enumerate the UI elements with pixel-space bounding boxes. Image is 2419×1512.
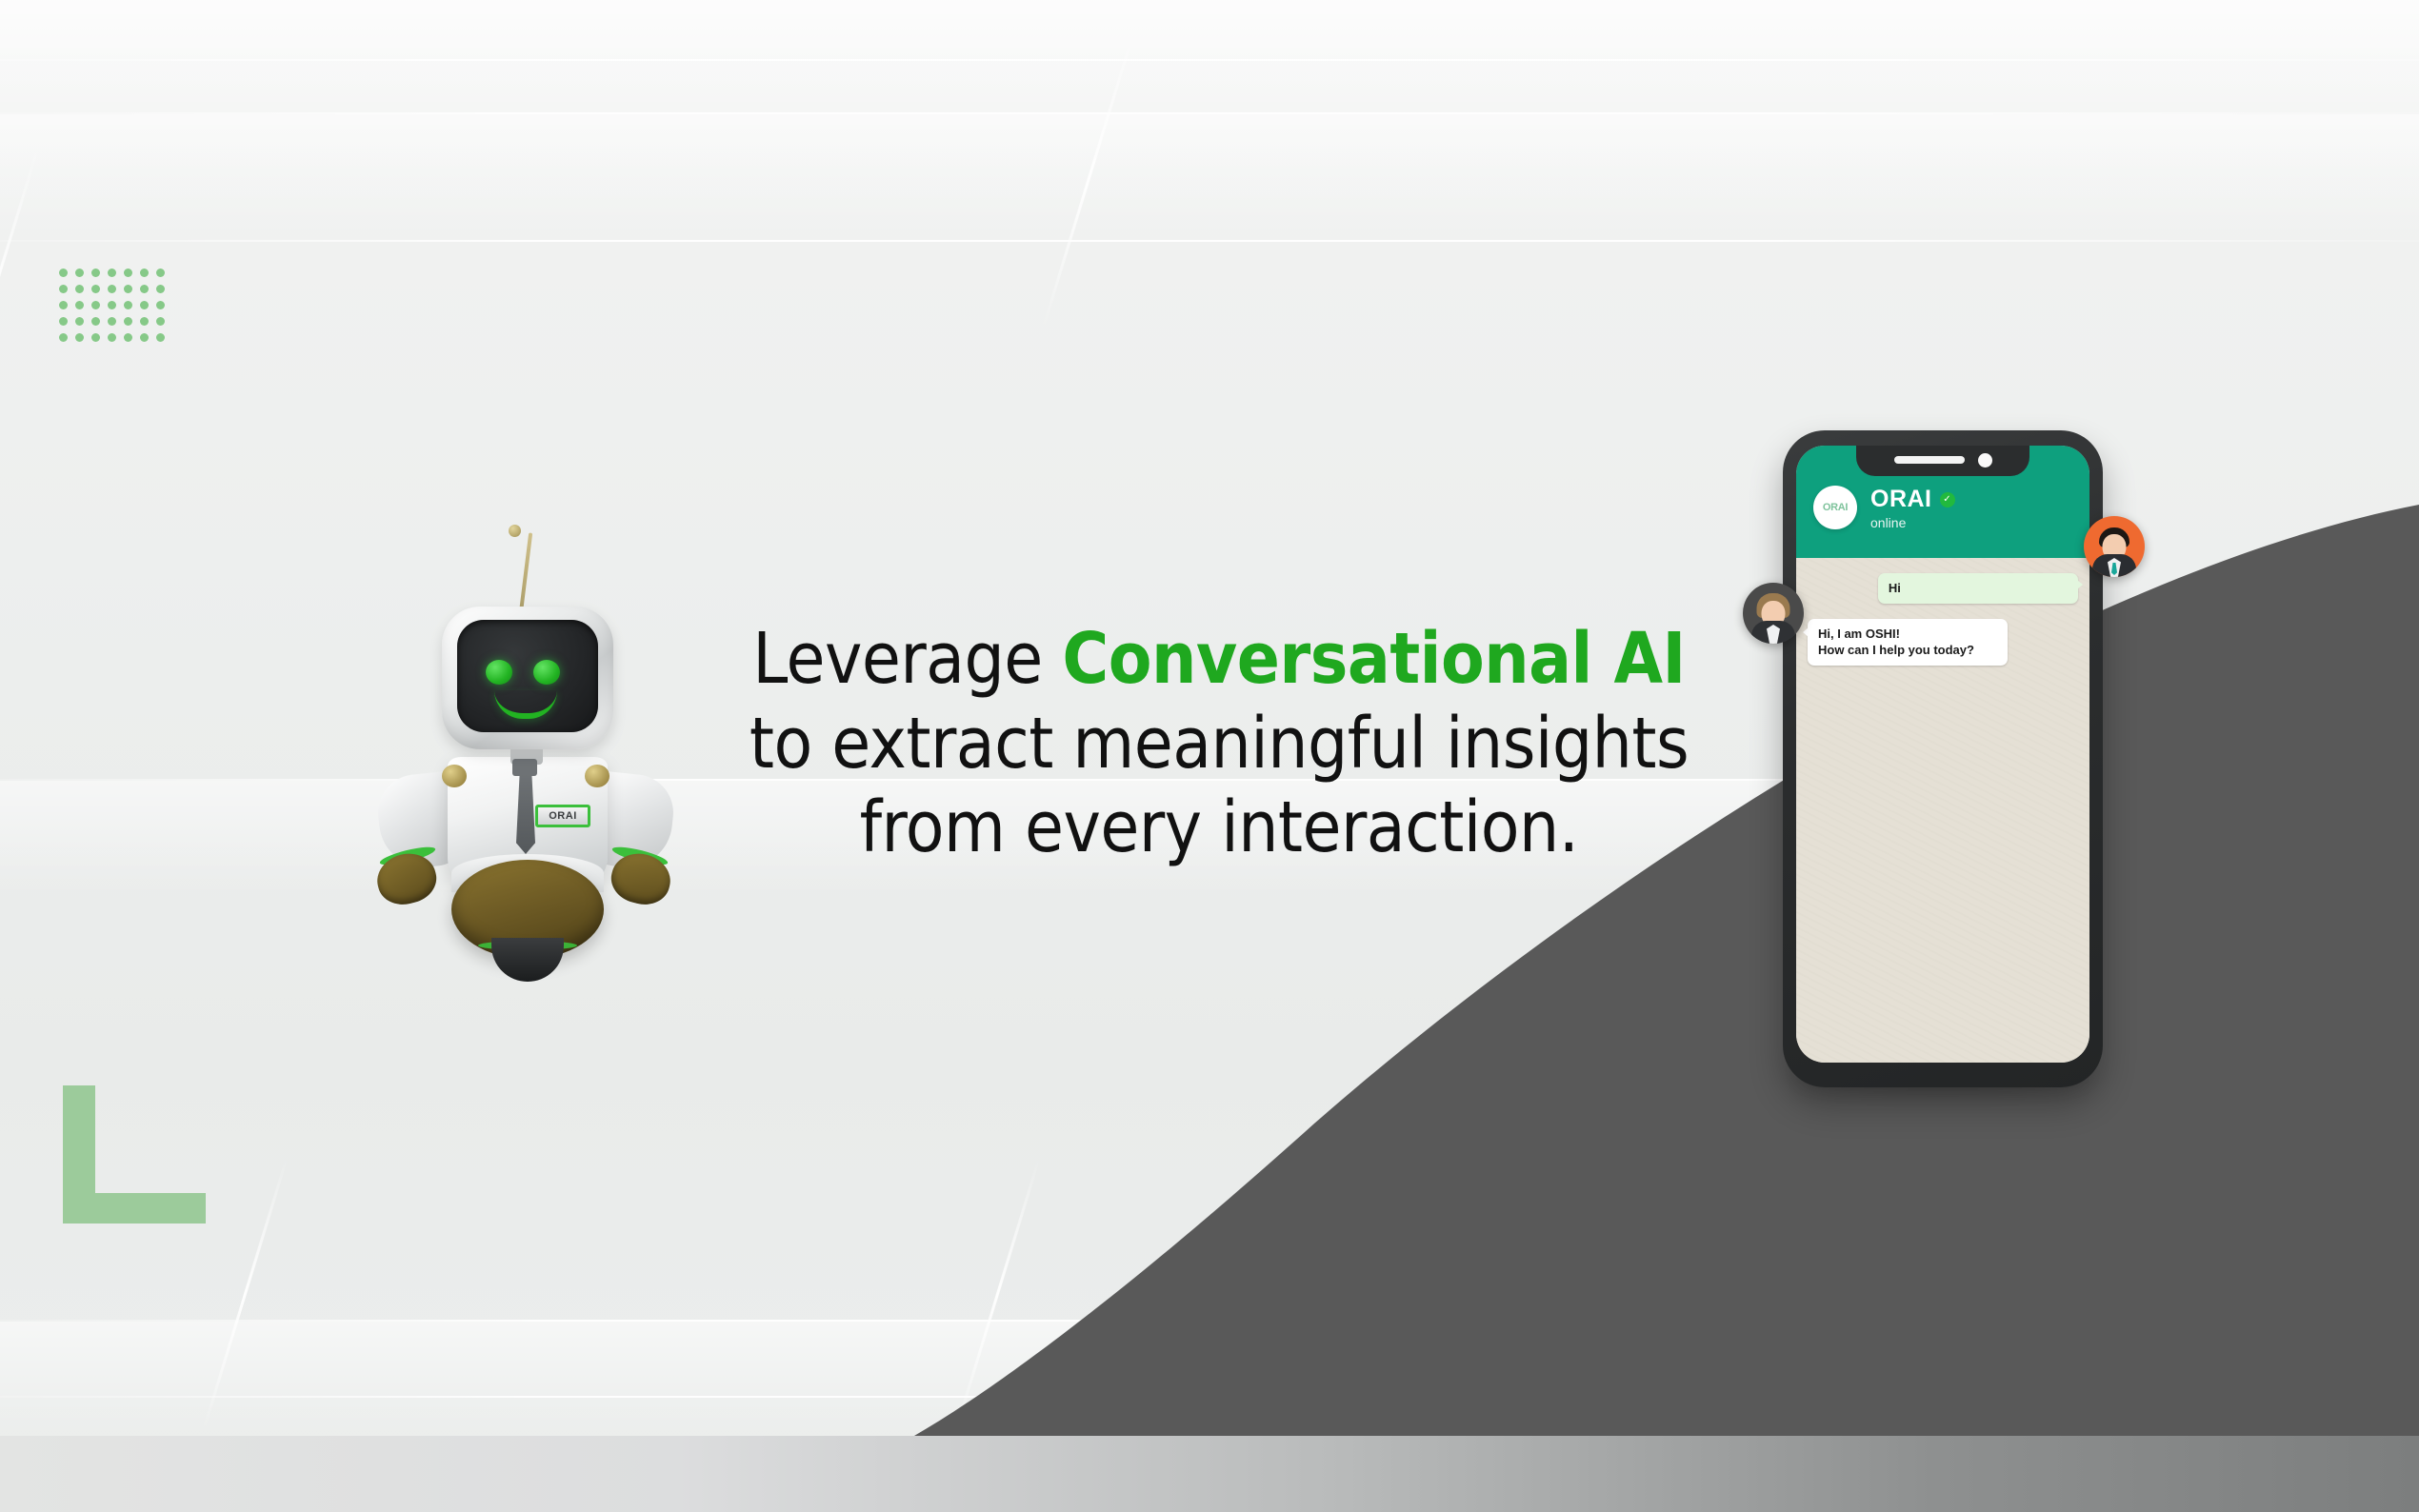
streak-diagonal — [1042, 29, 1136, 329]
robot-chest-badge-label: ORAI — [549, 810, 577, 822]
chat-message-text: Hi — [1889, 580, 2068, 597]
phone-mockup: ORAI ORAI ✓ online Hi Hi, — [1783, 430, 2107, 1108]
verified-check-icon: ✓ — [1940, 492, 1955, 507]
avatar: ORAI — [1813, 486, 1857, 529]
streak-band — [0, 114, 2419, 238]
streak-horizontal — [0, 1396, 2419, 1398]
robot-eye-right-icon — [533, 660, 560, 685]
robot-tie-knot — [512, 759, 537, 776]
phone-notch — [1856, 446, 2029, 476]
robot-head — [442, 607, 613, 749]
chat-message-text: Hi, I am OSHI! — [1818, 626, 1997, 643]
chat-message-list[interactable]: Hi Hi, I am OSHI! How can I help you tod… — [1796, 558, 2089, 1063]
status-badge: online — [1870, 516, 1955, 529]
chat-contact-meta: ORAI ✓ online — [1870, 486, 1955, 529]
chat-bubble-incoming: Hi, I am OSHI! How can I help you today? — [1808, 619, 2008, 666]
streak-horizontal — [0, 59, 2419, 61]
l-bracket-decoration — [63, 1085, 206, 1224]
promo-banner: ORAI Leverage Conversational AI to extra… — [0, 0, 2419, 1512]
avatar-customer — [2084, 516, 2145, 577]
avatar-agent — [1743, 583, 1804, 644]
streak-diagonal — [0, 143, 41, 444]
antenna-tip-icon — [509, 525, 521, 537]
headline-line-1: Leverage Conversational AI — [667, 624, 1771, 695]
dot-grid-decoration — [59, 269, 172, 349]
orai-robot-mascot: ORAI — [373, 519, 678, 966]
headline-accent: Conversational AI — [1062, 618, 1685, 700]
chat-bubble-outgoing: Hi — [1878, 573, 2078, 604]
robot-smile-icon — [494, 690, 557, 719]
robot-eye-left-icon — [486, 660, 512, 685]
robot-tie — [516, 774, 535, 854]
phone-frame: ORAI ORAI ✓ online Hi Hi, — [1783, 430, 2103, 1087]
page-title: Leverage Conversational AI to extract me… — [667, 624, 1771, 864]
phone-screen: ORAI ORAI ✓ online Hi Hi, — [1796, 446, 2089, 1063]
streak-horizontal — [0, 112, 2419, 114]
robot-chest-badge: ORAI — [535, 805, 590, 827]
earpiece-speaker-icon — [1894, 456, 1965, 464]
streak-diagonal — [954, 1157, 1041, 1431]
robot-face-screen — [457, 620, 598, 732]
robot-base — [491, 938, 564, 982]
chat-message-text: How can I help you today? — [1818, 642, 1997, 659]
headline-line-3: from every interaction. — [667, 792, 1771, 864]
streak-band — [0, 1322, 2419, 1436]
l-bracket-horizontal — [63, 1193, 206, 1224]
headline-line-2: to extract meaningful insights — [667, 708, 1771, 780]
front-camera-icon — [1978, 453, 1992, 468]
headline-prefix: Leverage — [752, 618, 1062, 700]
robot-shoulder-right — [585, 765, 610, 787]
streak-horizontal — [0, 240, 2419, 242]
brand-logo-text: ORAI — [1823, 502, 1848, 513]
streak-diagonal — [202, 1157, 289, 1431]
bottom-gradient-strip — [0, 1436, 2419, 1512]
chat-contact-name: ORAI — [1870, 487, 1932, 511]
chat-contact-title-row: ORAI ✓ — [1870, 487, 1955, 511]
top-vignette — [0, 0, 2419, 171]
robot-shoulder-left — [442, 765, 467, 787]
streak-horizontal — [0, 1320, 2419, 1322]
